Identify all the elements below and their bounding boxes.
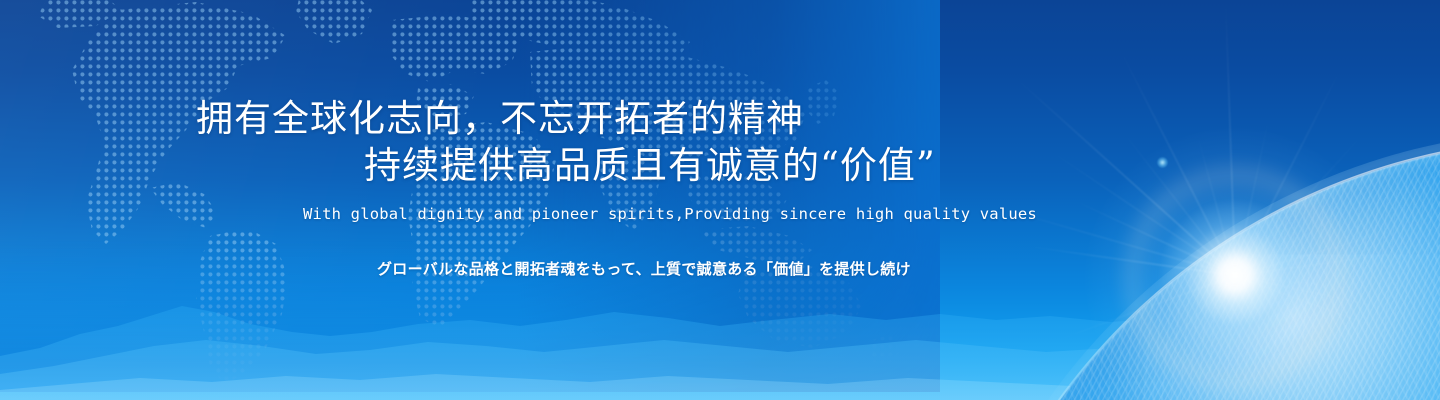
flare-ray (1117, 126, 1235, 277)
flare-ray (1027, 246, 1235, 277)
globe-rim-light (938, 138, 1440, 400)
flare-ray (1047, 275, 1235, 345)
flare-ray (1235, 275, 1402, 312)
flare-ray (1234, 109, 1271, 276)
flare-ray (1116, 44, 1235, 276)
flare-ray (1234, 275, 1305, 397)
sun-flare-bloom (1085, 128, 1385, 400)
flare-ray (1235, 275, 1423, 345)
planet-globe (880, 0, 1440, 400)
flare-ray (1235, 200, 1366, 276)
flare-ray (1235, 275, 1374, 291)
flare-ray (1224, 0, 1235, 276)
globe-surface-texture (940, 140, 1440, 400)
flare-ray (994, 206, 1235, 276)
world-map-dots (0, 0, 940, 392)
sun-flare-rays (1035, 78, 1435, 400)
flare-ray (1219, 276, 1236, 400)
flare-ray (1072, 199, 1236, 276)
flare-ray (1235, 214, 1440, 276)
flare-ray (1012, 74, 1236, 276)
world-map-decoration (0, 0, 940, 392)
flare-ray (1235, 250, 1413, 277)
flare-ray (1158, 275, 1236, 381)
sun-flare-halo (1125, 168, 1345, 388)
flare-ray (1159, 275, 1235, 400)
flare-ray (1234, 127, 1369, 277)
hero-banner: 拥有全球化志向，不忘开拓者的精神 持续提供高品质且有诚意的“价值” With g… (0, 0, 1440, 400)
sun-flare-core (1160, 200, 1310, 350)
flare-ray (1044, 147, 1236, 277)
flare-ray (1234, 62, 1344, 277)
flare-ray (1102, 275, 1235, 400)
globe-rim-glow (930, 130, 1440, 400)
flare-ray (1195, 131, 1235, 276)
star-sparkle-icon (1157, 157, 1168, 168)
globe-body (940, 140, 1440, 400)
